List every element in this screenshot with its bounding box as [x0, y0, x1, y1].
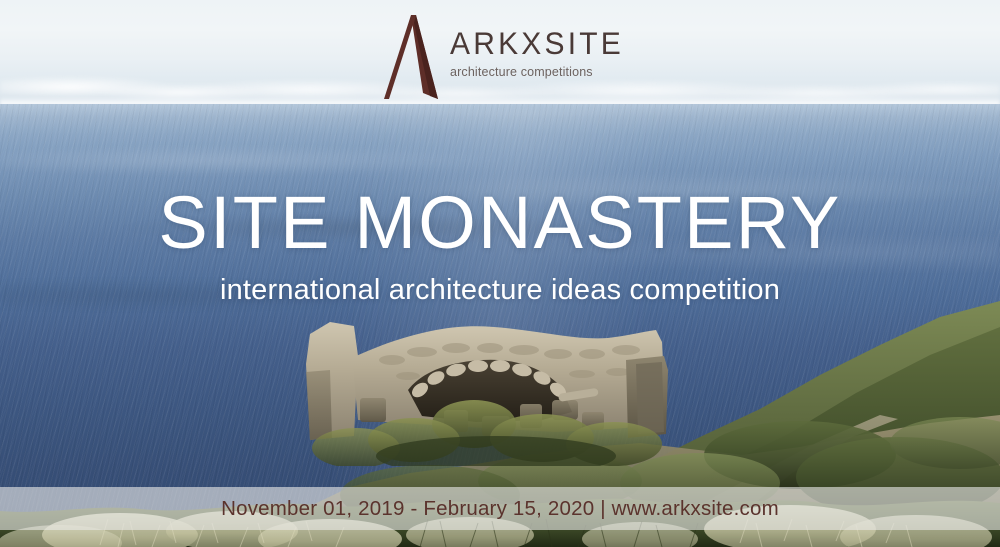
ruin-right-pier-face [636, 362, 664, 434]
brand-tagline: architecture competitions [450, 66, 624, 79]
brand-logo-inner: ARKXSITE architecture competitions [376, 7, 624, 99]
brand-wordmark: ARKXSITE architecture competitions [450, 29, 624, 79]
arkxsite-a-mark-icon [376, 13, 444, 99]
footer-bar: November 01, 2019 - February 15, 2020 | … [0, 487, 1000, 530]
footer-dates-and-website[interactable]: November 01, 2019 - February 15, 2020 | … [221, 497, 779, 521]
monastery-ruin [296, 316, 696, 466]
ruin-left-tower-shadow [306, 370, 332, 440]
competition-poster: ARKXSITE architecture competitions SITE … [0, 0, 1000, 547]
brand-name: ARKXSITE [450, 29, 624, 60]
brand-logo[interactable]: ARKXSITE architecture competitions [0, 0, 1000, 106]
